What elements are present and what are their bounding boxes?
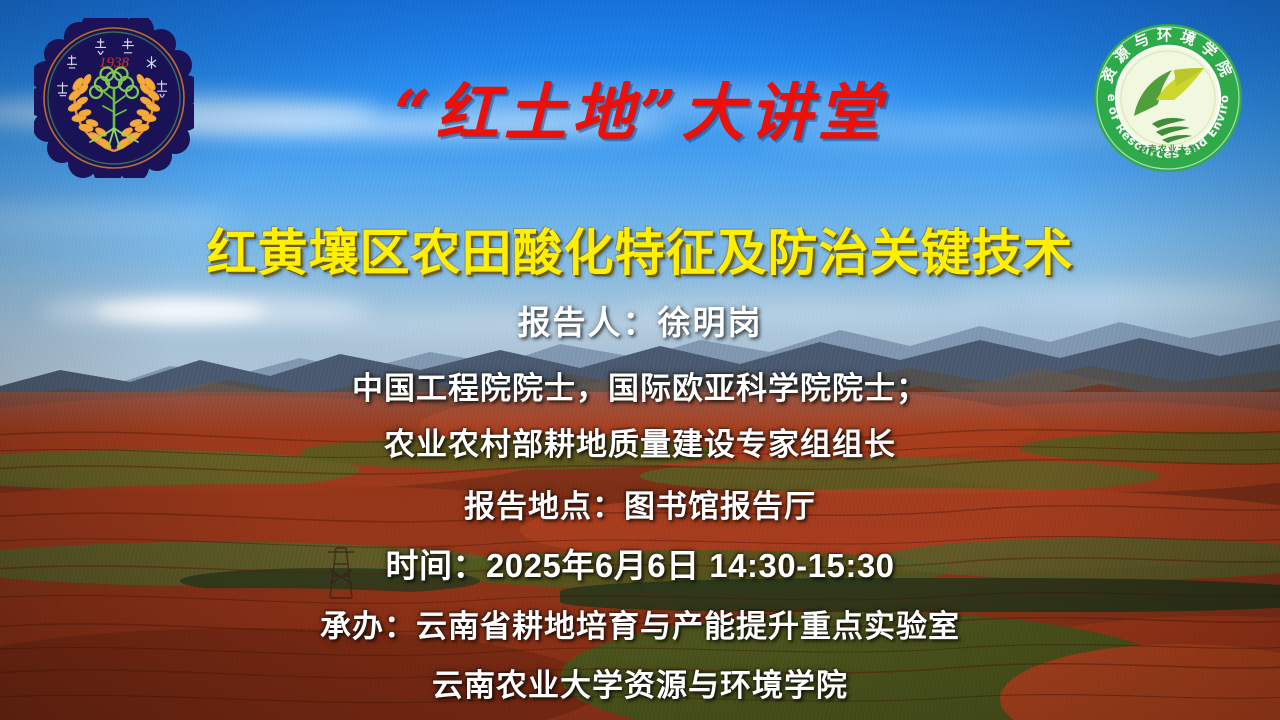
poster-subtitle: 红黄壤区农田酸化特征及防治关键技术 [0,213,1280,285]
lecture-poster: 1938 [0,0,1280,720]
poster-host-line-2: 云南农业大学资源与环境学院 [0,660,1280,705]
poster-datetime: 时间：2025年6月6日 14:30-15:30 [0,539,1280,587]
poster-speaker: 报告人：徐明岗 [0,296,1280,344]
poster-text-stack: “红土地”大讲堂 红黄壤区农田酸化特征及防治关键技术 报告人：徐明岗 中国工程院… [0,0,1280,720]
poster-venue: 报告地点：图书馆报告厅 [0,481,1280,526]
poster-host-line-1: 承办：云南省耕地培育与产能提升重点实验室 [0,601,1280,646]
poster-credential-line-1: 中国工程院院士，国际欧亚科学院院士； [0,363,1280,408]
poster-main-title: “红土地”大讲堂 [0,62,1280,152]
poster-credential-line-2: 农业农村部耕地质量建设专家组组长 [0,419,1280,464]
